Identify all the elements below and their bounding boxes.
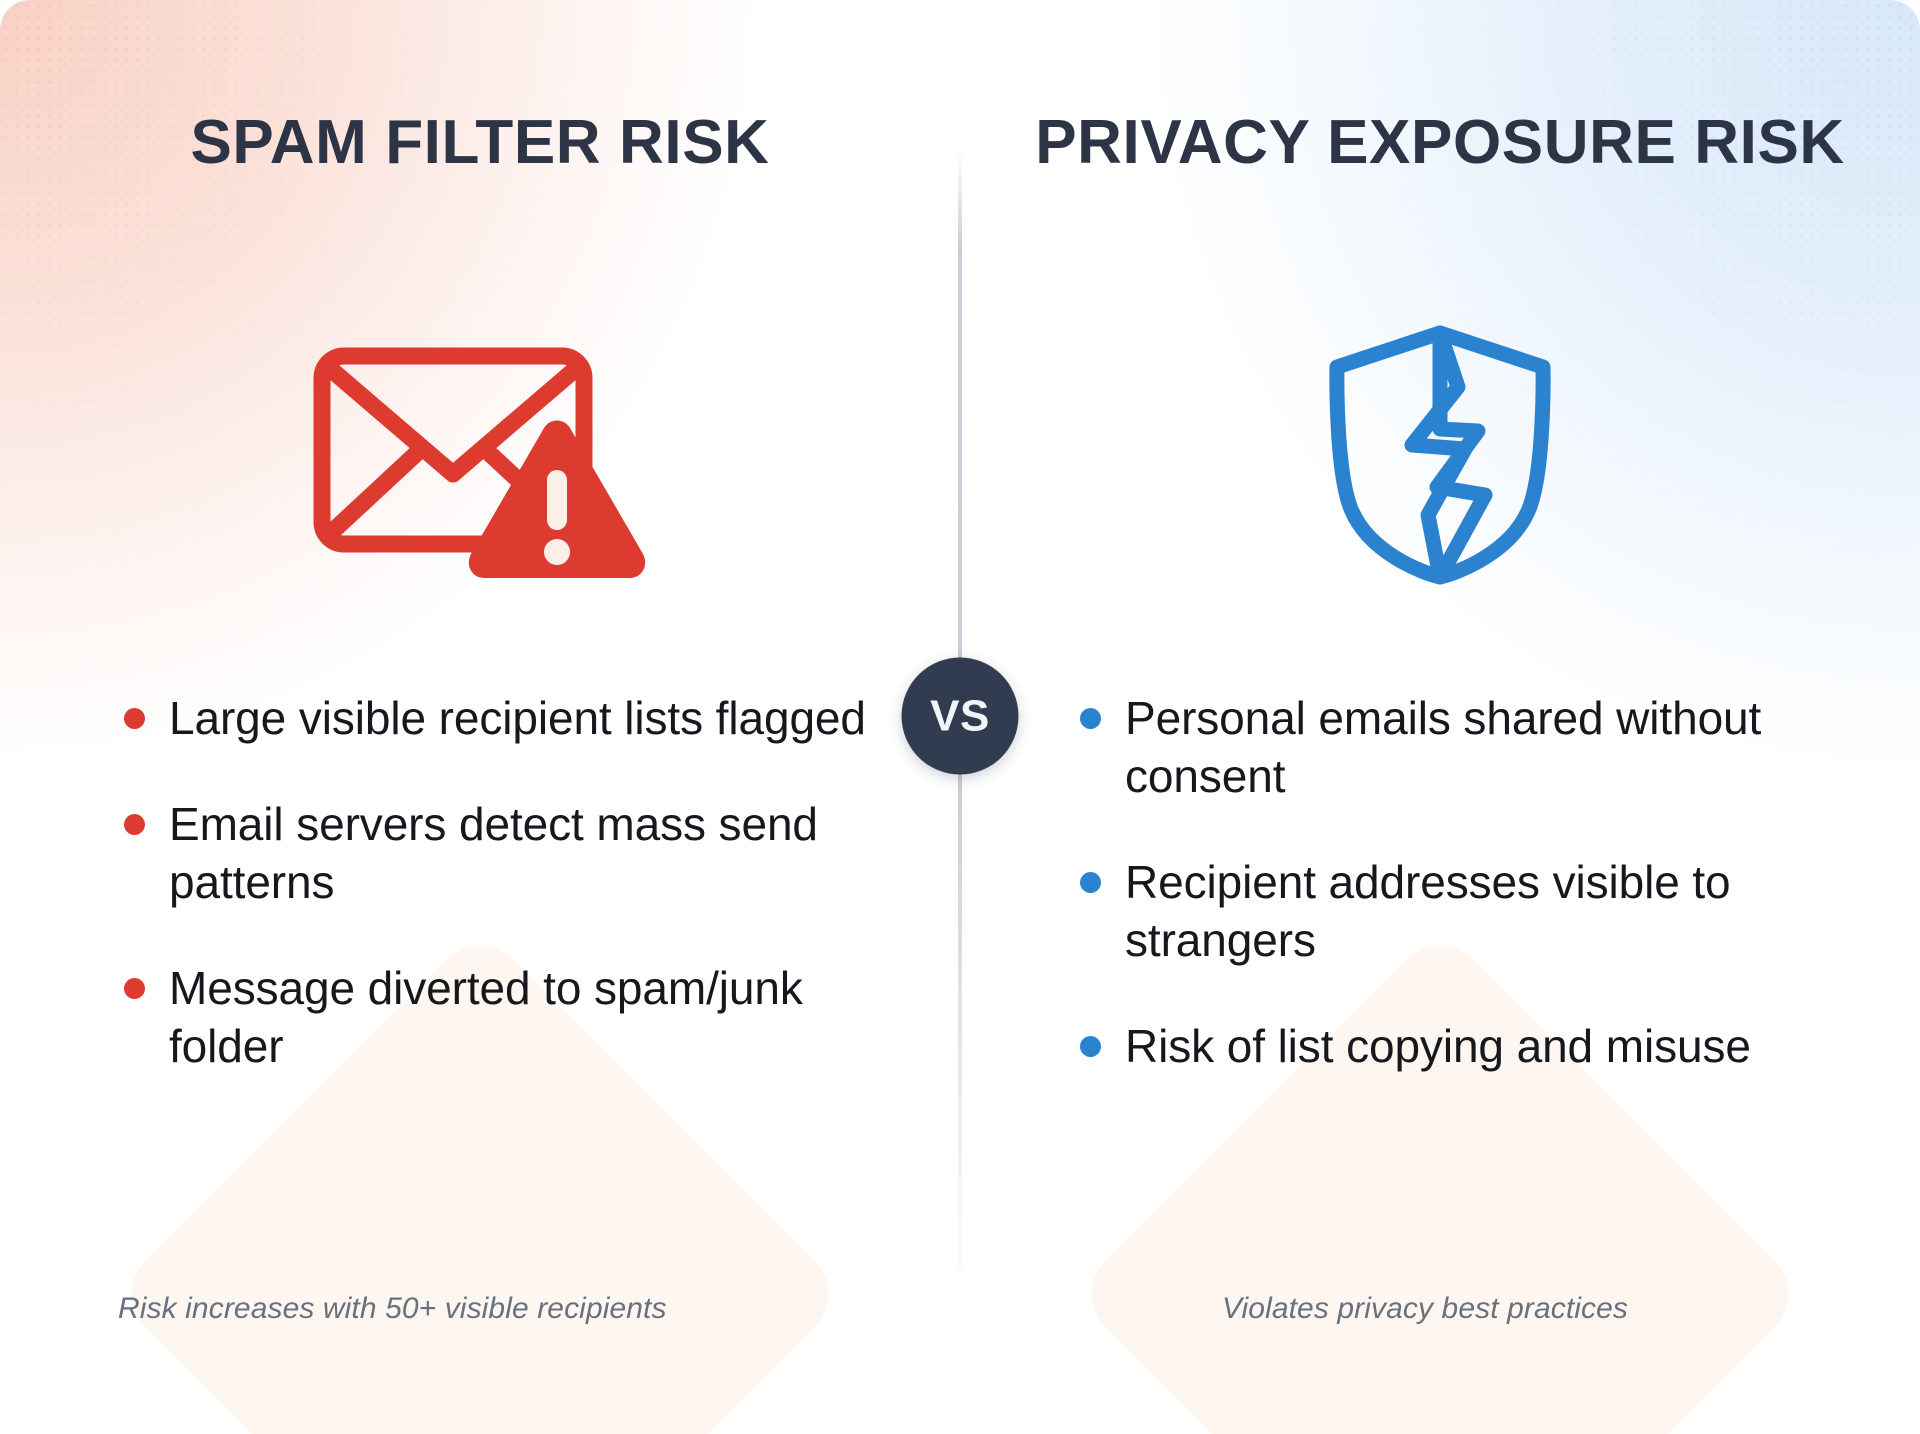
bullet-dot-icon <box>124 978 145 999</box>
vs-badge: VS <box>902 658 1019 775</box>
list-item-text: Message diverted to spam/junk folder <box>169 960 890 1076</box>
right-bullet-list: Personal emails shared without consent R… <box>960 690 1920 1076</box>
list-item-text: Personal emails shared without consent <box>1125 690 1860 806</box>
panel-privacy-exposure-risk: PRIVACY EXPOSURE RISK Personal emails sh… <box>960 0 1920 1434</box>
left-bullet-list: Large visible recipient lists flagged Em… <box>0 690 960 1076</box>
bullet-dot-icon <box>124 814 145 835</box>
list-item: Recipient addresses visible to strangers <box>1080 854 1860 970</box>
bullet-dot-icon <box>1080 708 1101 729</box>
list-item: Message diverted to spam/junk folder <box>124 960 890 1076</box>
right-panel-title: PRIVACY EXPOSURE RISK <box>960 108 1920 177</box>
list-item: Personal emails shared without consent <box>1080 690 1860 806</box>
envelope-warning-icon <box>0 324 960 584</box>
list-item: Email servers detect mass send patterns <box>124 796 890 912</box>
list-item-text: Risk of list copying and misuse <box>1125 1018 1751 1076</box>
bullet-dot-icon <box>1080 1036 1101 1057</box>
list-item-text: Email servers detect mass send patterns <box>169 796 890 912</box>
list-item: Risk of list copying and misuse <box>1080 1018 1860 1076</box>
panel-spam-filter-risk: SPAM FILTER RISK <box>0 0 960 1434</box>
broken-shield-icon <box>960 324 1920 584</box>
list-item-text: Recipient addresses visible to strangers <box>1125 854 1860 970</box>
left-panel-footnote: Risk increases with 50+ visible recipien… <box>0 1292 960 1326</box>
bullet-dot-icon <box>1080 872 1101 893</box>
right-panel-footnote: Violates privacy best practices <box>960 1292 1920 1326</box>
comparison-infographic: SPAM FILTER RISK <box>0 0 1920 1434</box>
list-item: Large visible recipient lists flagged <box>124 690 890 748</box>
vs-badge-label: VS <box>930 691 990 741</box>
bullet-dot-icon <box>124 708 145 729</box>
left-panel-title: SPAM FILTER RISK <box>0 108 960 177</box>
list-item-text: Large visible recipient lists flagged <box>169 690 866 748</box>
